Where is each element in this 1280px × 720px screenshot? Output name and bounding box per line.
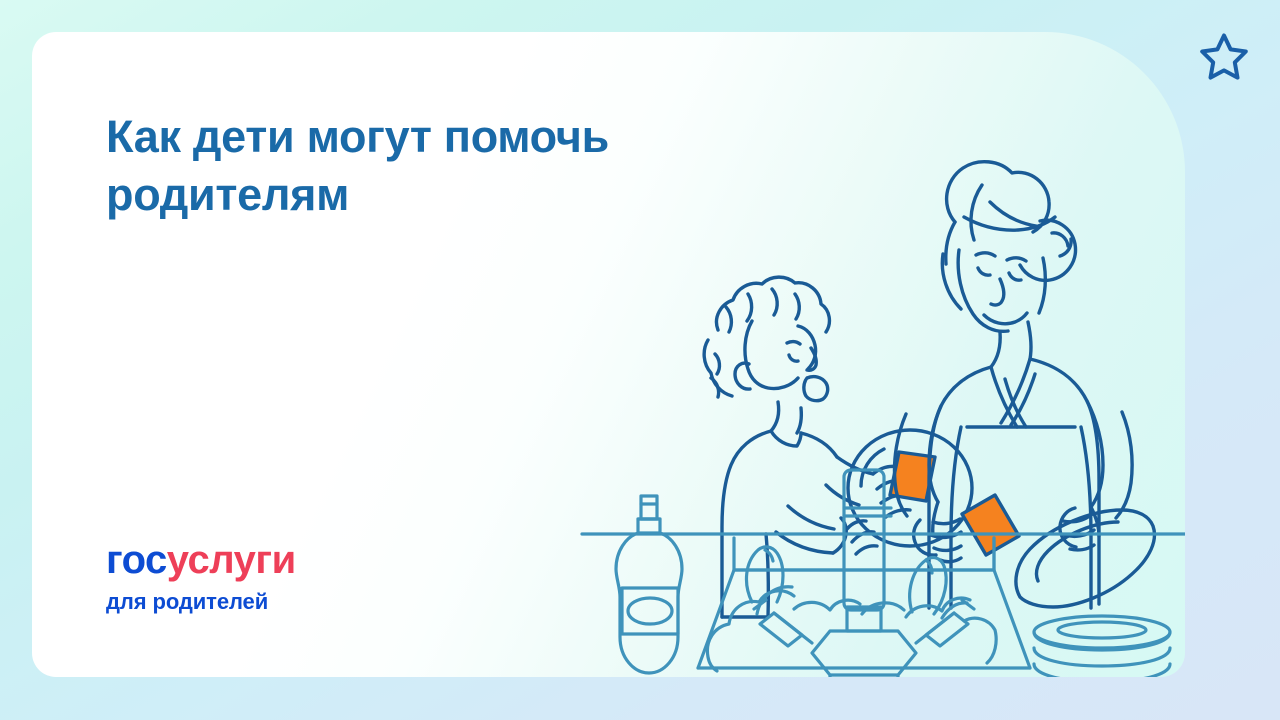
star-icon	[1196, 30, 1252, 86]
banner-root: Как дети могут помочь родителям	[0, 0, 1280, 720]
logo-word-red: услуги	[167, 538, 296, 582]
logo-word-blue: гос	[106, 538, 167, 582]
woman-face	[958, 250, 1045, 367]
logo-wordmark: госуслуги	[106, 540, 296, 580]
illustration-mother-and-child-washing-dishes	[512, 102, 1185, 677]
content-card: Как дети могут помочь родителям	[32, 32, 1185, 677]
boy-hand-left	[833, 518, 877, 554]
soap-bottle	[616, 496, 682, 673]
plate-stack	[1034, 616, 1170, 677]
gosuslugi-logo[interactable]: госуслуги для родителей	[106, 540, 296, 615]
logo-subtitle: для родителей	[106, 589, 296, 615]
boy-face	[735, 321, 828, 433]
plate-in-woman-hand	[1016, 510, 1155, 607]
